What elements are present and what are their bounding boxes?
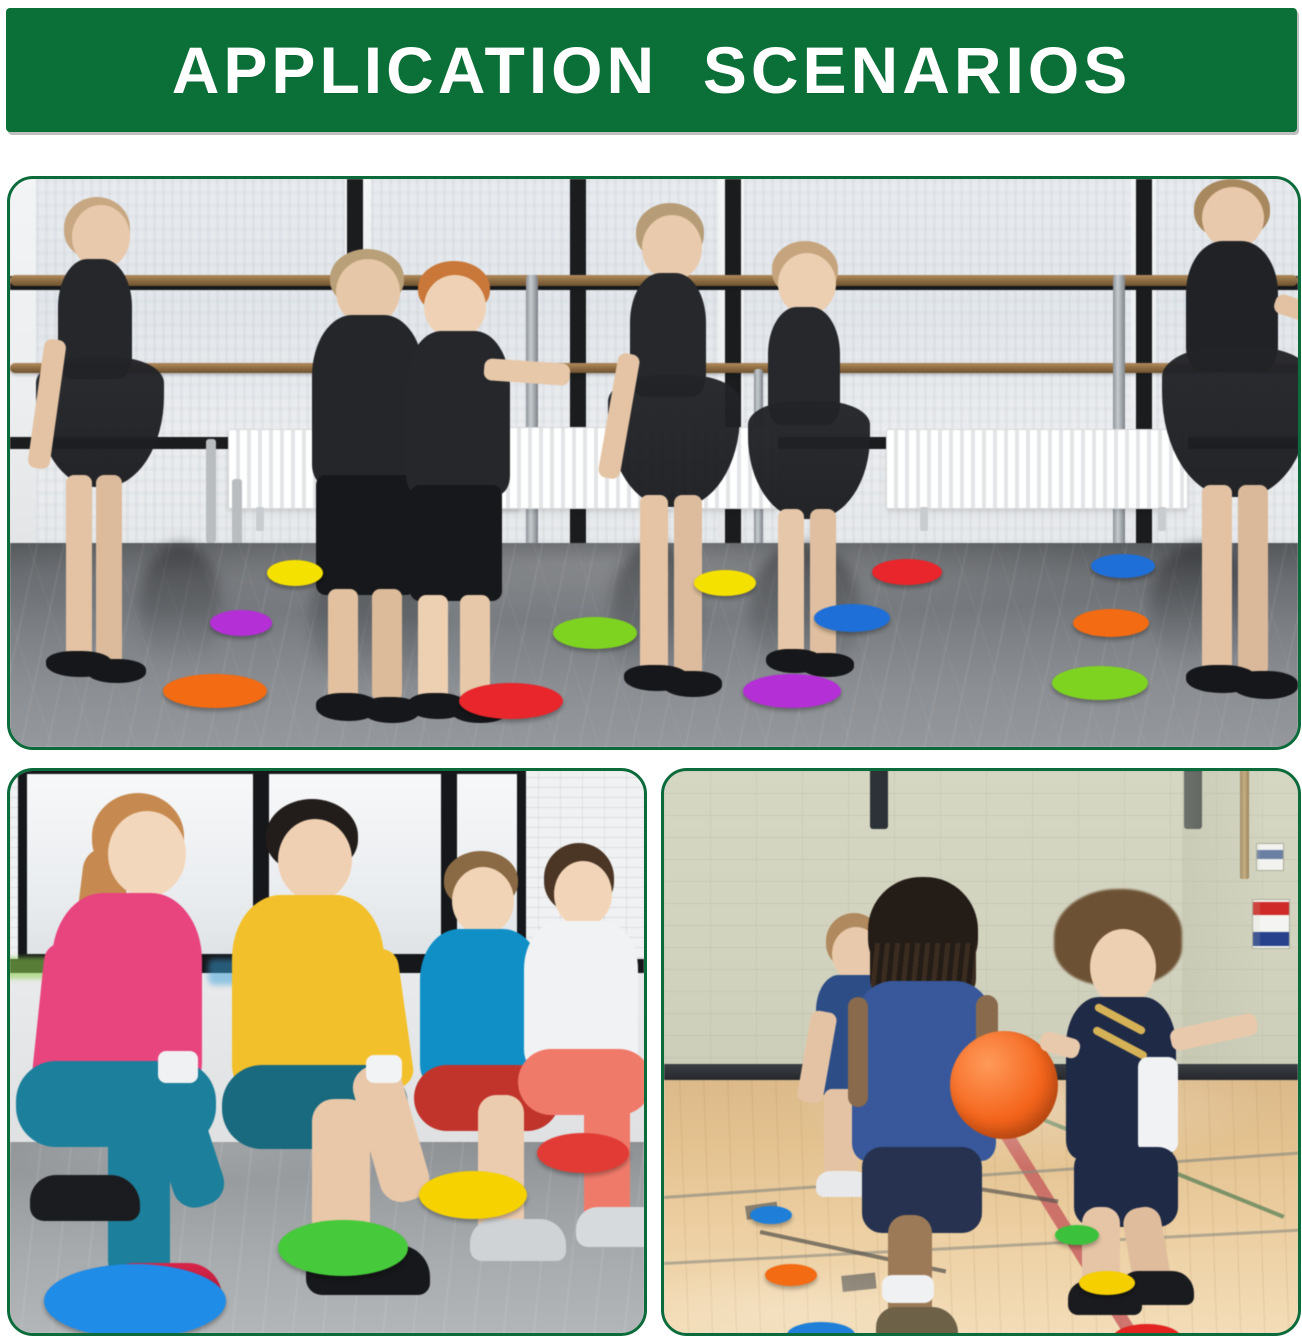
floor-marker-blue <box>750 1206 792 1224</box>
dancer <box>388 261 528 750</box>
scenario-panel-fitness-class <box>7 768 647 1336</box>
floor-marker-green <box>278 1220 408 1276</box>
dancer <box>20 189 190 749</box>
wrist-band <box>158 1051 198 1083</box>
wrist-band <box>366 1055 402 1083</box>
floor-marker-yellow <box>1079 1271 1135 1295</box>
floor-marker-purple <box>210 610 272 636</box>
floor-marker-blue <box>814 604 890 632</box>
floor-marker-blue <box>1091 554 1155 578</box>
floor-marker-red <box>872 559 942 585</box>
sneaker <box>30 1175 140 1221</box>
application-scenarios-page: APPLICATION SCENARIOS <box>0 0 1302 1343</box>
sneaker <box>876 1307 958 1336</box>
barre-post <box>1113 275 1125 571</box>
fitness-class-photo <box>10 771 644 1333</box>
floor-marker-green <box>1052 666 1148 700</box>
child-lunging <box>510 843 647 1313</box>
floor-marker-yellow <box>419 1171 527 1219</box>
radiator <box>886 429 1188 509</box>
scenario-panel-gymnasium <box>661 768 1301 1336</box>
sneaker <box>576 1207 647 1247</box>
dance-studio-photo <box>10 179 1298 747</box>
gymnasium-photo <box>664 771 1298 1333</box>
radiator-leg <box>920 507 928 531</box>
arm <box>848 997 868 1107</box>
sock <box>882 1275 934 1303</box>
radiator-pipe <box>206 439 216 543</box>
scenario-panel-dance-studio <box>7 176 1301 750</box>
floor-marker-blue <box>44 1264 226 1336</box>
wall-pad <box>870 768 888 829</box>
floor-marker-red <box>537 1133 629 1173</box>
floor-marker-orange <box>163 674 267 708</box>
dancer <box>738 241 888 741</box>
floor-marker-yellow <box>267 560 323 586</box>
floor-marker-purple <box>743 674 841 708</box>
radiator-leg <box>256 507 264 531</box>
header-banner: APPLICATION SCENARIOS <box>6 8 1297 132</box>
dancer <box>596 203 756 750</box>
floor-marker-green <box>553 617 637 649</box>
dance-teacher <box>1152 179 1301 749</box>
floor-marker-red <box>459 683 563 719</box>
jersey-panel <box>1138 1057 1178 1153</box>
floor-marker-green <box>1055 1225 1099 1245</box>
floor-marker-orange <box>1073 609 1149 637</box>
child-running <box>1034 889 1230 1279</box>
wall-sign <box>1256 843 1284 871</box>
floor-marker-yellow <box>694 570 756 596</box>
page-title: APPLICATION SCENARIOS <box>172 37 1132 103</box>
floor-marker-orange <box>765 1264 817 1286</box>
child-lunging <box>16 793 246 1333</box>
